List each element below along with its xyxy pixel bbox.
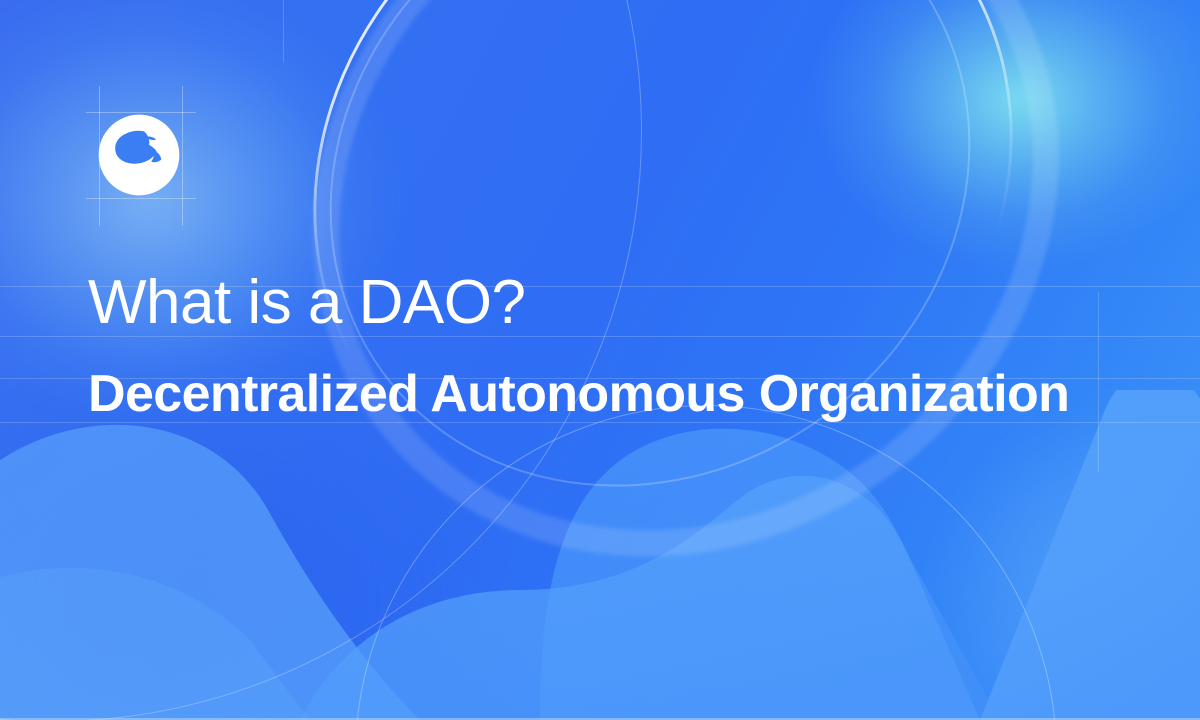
guide-line-right-vertical	[1098, 292, 1099, 472]
logo-block	[86, 86, 196, 226]
bird-head-logo-icon	[97, 113, 181, 197]
hero-banner: What is a DAO? Decentralized Autonomous …	[0, 0, 1200, 720]
crosshair-guide-icon	[86, 198, 196, 199]
crosshair-guide-icon	[182, 86, 183, 226]
page-subtitle: Decentralized Autonomous Organization	[88, 368, 1069, 420]
guide-tick-top	[283, 0, 284, 62]
page-title: What is a DAO?	[88, 272, 525, 334]
